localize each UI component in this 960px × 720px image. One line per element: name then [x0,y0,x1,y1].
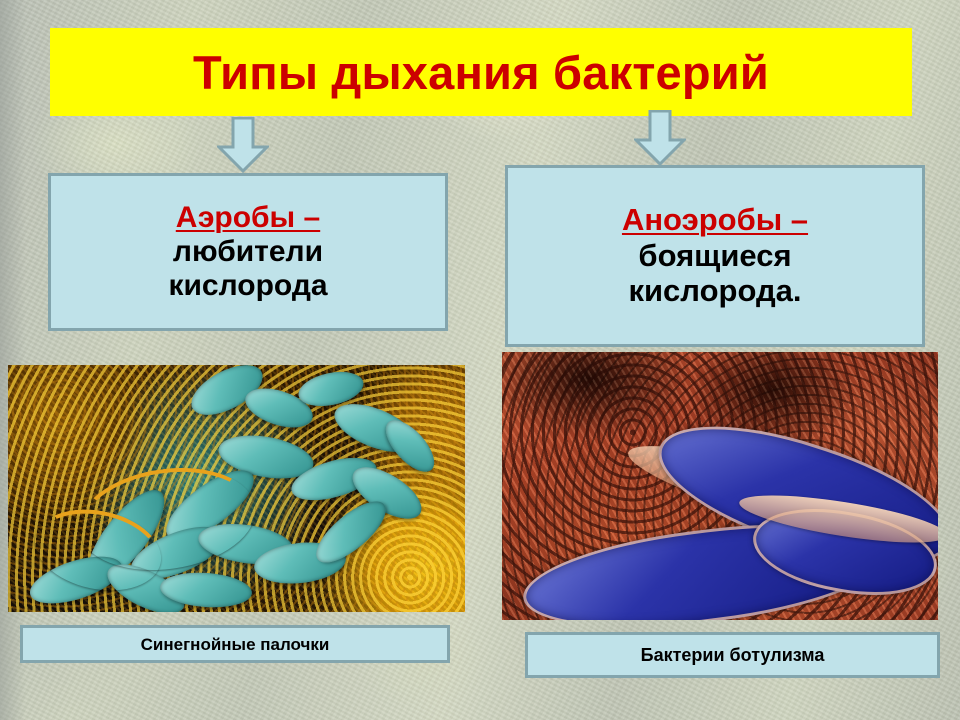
background-streak [0,0,26,720]
caption-box-aerobe: Синегнойные палочки [20,625,450,663]
concept-box-aerobes: Аэробы – любители кислорода [48,173,448,331]
concept-description-aerobes: любители кислорода [168,235,327,303]
arrow-to-aerobes [217,117,269,173]
concept-description-anaerobes: боящиеся кислорода. [628,238,801,309]
arrow-down-icon [634,110,686,166]
micrograph-background-amber [8,365,465,612]
arrow-to-anaerobes [634,110,686,166]
caption-text-anaerobe: Бактерии ботулизма [641,646,825,664]
caption-box-anaerobe: Бактерии ботулизма [525,632,940,678]
micrograph-background-salmon [502,352,938,620]
concept-term-anaerobes: Аноэробы – [622,203,808,238]
page-title: Типы дыхания бактерий [193,49,769,96]
title-banner: Типы дыхания бактерий [50,28,912,116]
caption-text-aerobe: Синегнойные палочки [141,636,330,653]
slide-canvas: Типы дыхания бактерий Аэробы – любители … [0,0,960,720]
aerobe-micrograph [8,365,465,612]
concept-term-aerobes: Аэробы – [176,201,320,235]
arrow-down-icon [217,117,269,173]
anaerobe-micrograph [502,352,938,620]
concept-box-anaerobes: Аноэробы – боящиеся кислорода. [505,165,925,347]
